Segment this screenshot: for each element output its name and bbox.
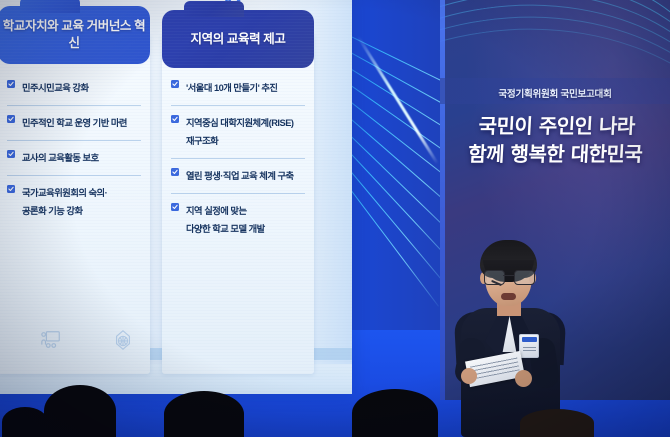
- list-item-label: '서울대 10개 만들기' 추진: [186, 83, 278, 93]
- glasses-bridge: [503, 275, 514, 276]
- list-item-label: 민주시민교육 강화: [22, 83, 89, 93]
- panel-left-edge: [440, 0, 445, 400]
- check-icon: [171, 168, 179, 176]
- list-item: 교사의 교육활동 보호: [7, 148, 141, 176]
- card-04-title: 지역의 교육력 제고: [191, 31, 286, 48]
- hand-right: [515, 370, 532, 387]
- bright-light-beam: [357, 36, 439, 165]
- check-icon: [7, 150, 15, 158]
- conference-stage-scene: 국정기획위원회 국민보고대회 국민이 주인인 나라 함께 행복한 대한민국 03…: [0, 0, 670, 437]
- lens-right: [514, 270, 535, 285]
- card-03-title: 학교자치와 교육 거버넌스 혁신: [0, 18, 150, 52]
- list-item: 민주시민교육 강화: [7, 78, 141, 106]
- check-icon: [171, 203, 179, 211]
- card-03-bullet-list: 민주시민교육 강화 민주적인 학교 운영 기반 마련 교사의 교육활동 보호: [0, 78, 150, 235]
- check-icon: [7, 185, 15, 193]
- hand-left: [461, 368, 477, 384]
- globe-icon: [112, 329, 134, 356]
- list-item-label: 국가교육위원회의 숙의· 공론화 기능 강화: [22, 188, 107, 216]
- list-item: 열린 평생·직업 교육 체계 구축: [171, 166, 305, 194]
- list-item-label: 지역 실정에 맞는 다양한 학교 모델 개발: [186, 206, 265, 234]
- presentation-board-icon: [40, 329, 62, 356]
- list-item: 국가교육위원회의 숙의· 공론화 기능 강화: [7, 183, 141, 228]
- list-item-label: 교사의 교육활동 보호: [22, 153, 99, 163]
- banner-subtitle: 국정기획위원회 국민보고대회: [440, 86, 670, 100]
- check-icon: [171, 115, 179, 123]
- list-item: 민주적인 학교 운영 기반 마련: [7, 113, 141, 141]
- audience-head: [164, 391, 244, 437]
- card-04-header: 지역의 교육력 제고: [162, 10, 314, 68]
- audience-head: [44, 385, 116, 437]
- projected-slide: 03 04 학교자치와 교육 거버넌스 혁신 민주시민교육 강화: [0, 0, 352, 394]
- banner-headline: 국민이 주인인 나라 함께 행복한 대한민국: [437, 112, 670, 169]
- audience-head: [520, 409, 594, 437]
- list-item: '서울대 10개 만들기' 추진: [171, 78, 305, 106]
- list-item-label: 민주적인 학교 운영 기반 마련: [22, 118, 127, 128]
- mouth: [501, 293, 516, 300]
- check-icon: [171, 80, 179, 88]
- card-03-header: 학교자치와 교육 거버넌스 혁신: [0, 6, 150, 64]
- audience-head: [352, 389, 438, 437]
- slide-card-03: 학교자치와 교육 거버넌스 혁신 민주시민교육 강화 민주적인 학교 운영 기반…: [0, 34, 150, 374]
- check-icon: [7, 115, 15, 123]
- name-badge: [519, 334, 539, 358]
- speaker-figure: [455, 238, 565, 437]
- card-04-header-tab: [184, 1, 244, 17]
- audience-head: [2, 407, 48, 437]
- card-04-bullet-list: '서울대 10개 만들기' 추진 지역중심 대학지원체계(RISE) 재구조화 …: [162, 78, 314, 253]
- card-03-header-tab: [20, 0, 80, 13]
- list-item: 지역중심 대학지원체계(RISE) 재구조화: [171, 113, 305, 159]
- list-item-label: 지역중심 대학지원체계(RISE) 재구조화: [186, 118, 294, 146]
- list-item: 지역 실정에 맞는 다양한 학교 모델 개발: [171, 201, 305, 246]
- check-icon: [7, 80, 15, 88]
- slide-card-04: 지역의 교육력 제고 '서울대 10개 만들기' 추진 지역중심 대학지원체계(…: [162, 34, 314, 374]
- list-item-label: 열린 평생·직업 교육 체계 구축: [186, 171, 294, 181]
